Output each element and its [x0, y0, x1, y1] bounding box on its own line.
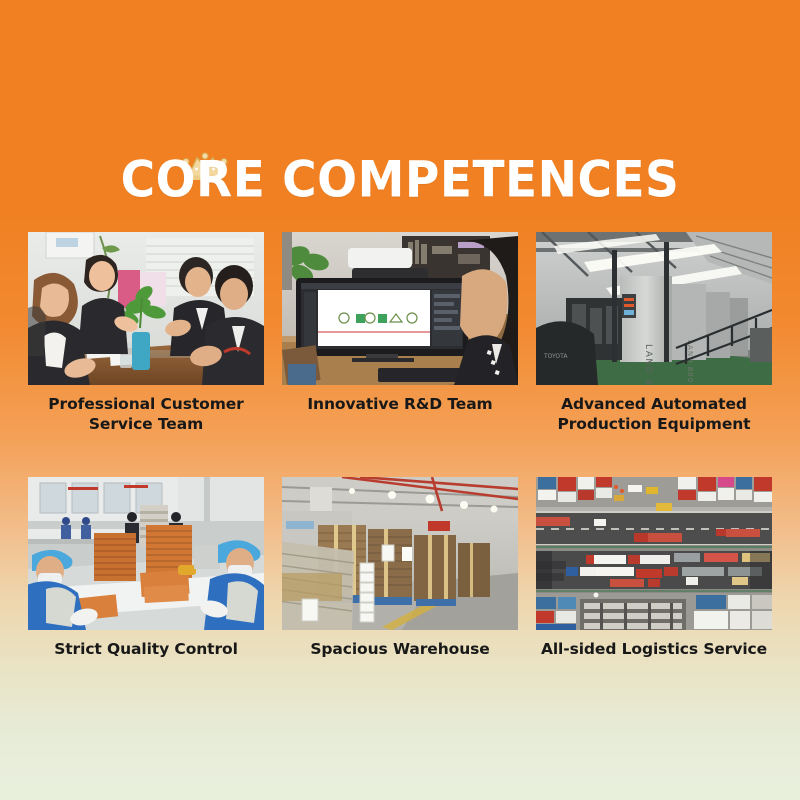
caption-line-1: Strict Quality Control	[54, 640, 238, 658]
competences-grid: Professional Customer Service Team	[28, 232, 772, 659]
card-advanced-automated-production-equipment[interactable]: LAND 800 LAND 800 TOYOT	[536, 232, 772, 434]
caption-line-1: Innovative R&D Team	[307, 395, 492, 413]
printing-press-factory-photo: LAND 800 LAND 800 TOYOT	[536, 232, 772, 385]
card-caption: Professional Customer Service Team	[28, 394, 264, 434]
page-title: CORE COMPETENCES	[121, 150, 680, 211]
card-professional-customer-service-team[interactable]: Professional Customer Service Team	[28, 232, 264, 434]
card-innovative-rd-team[interactable]: Innovative R&D Team	[282, 232, 518, 434]
caption-line-1: All-sided Logistics Service	[541, 640, 767, 658]
card-caption: Strict Quality Control	[28, 639, 264, 659]
caption-line-1: Advanced Automated	[561, 395, 747, 413]
svg-text:LAND 800: LAND 800	[643, 344, 653, 385]
card-caption: Spacious Warehouse	[282, 639, 518, 659]
aerial-container-port-photo	[536, 477, 772, 630]
caption-line-2: Service Team	[89, 415, 203, 433]
page-header: CORE COMPETENCES	[0, 150, 800, 208]
caption-line-1: Spacious Warehouse	[310, 640, 489, 658]
office-meeting-photo	[28, 232, 264, 385]
card-spacious-warehouse[interactable]: Spacious Warehouse	[282, 477, 518, 659]
caption-line-1: Professional Customer	[48, 395, 243, 413]
svg-text:TOYOTA: TOYOTA	[543, 353, 568, 360]
warehouse-pallets-photo	[282, 477, 518, 630]
svg-text:LAND 800: LAND 800	[686, 340, 694, 383]
card-caption: Innovative R&D Team	[282, 394, 518, 414]
card-all-sided-logistics-service[interactable]: All-sided Logistics Service	[536, 477, 772, 659]
card-strict-quality-control[interactable]: Strict Quality Control	[28, 477, 264, 659]
designer-at-monitor-photo	[282, 232, 518, 385]
card-caption: Advanced Automated Production Equipment	[536, 394, 772, 434]
quality-inspection-workers-photo	[28, 477, 264, 630]
caption-line-2: Production Equipment	[557, 415, 750, 433]
card-caption: All-sided Logistics Service	[536, 639, 772, 659]
